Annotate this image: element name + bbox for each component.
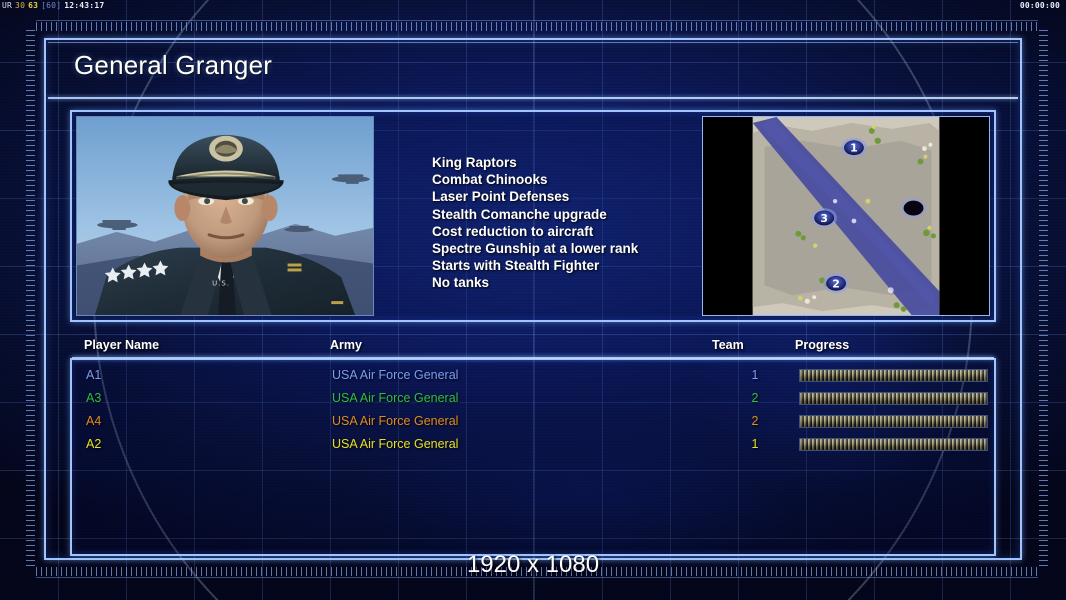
map-start-position-1: 1 <box>850 142 858 155</box>
column-header-team: Team <box>712 338 744 352</box>
title-divider <box>48 97 1018 99</box>
ability-item: Stealth Comanche upgrade <box>432 206 638 223</box>
player-list-header: Player Name Army Team Progress <box>72 338 994 358</box>
player-progress-bar <box>799 369 988 382</box>
hud-clock: 12:43:17 <box>64 1 104 10</box>
player-list-divider <box>72 357 994 359</box>
map-preview-artwork: 1 2 3 <box>703 117 989 315</box>
column-header-army: Army <box>330 338 362 352</box>
map-preview: 1 2 3 <box>702 116 990 316</box>
hud-topbar: UR3063[60]12:43:17 00:00:00 <box>0 0 1066 11</box>
general-portrait: U.S. <box>76 116 374 316</box>
table-row[interactable]: A1USA Air Force General1 <box>72 364 994 387</box>
ability-item: Cost reduction to aircraft <box>432 223 638 240</box>
player-team-cell: 2 <box>745 410 765 433</box>
hud-value-1: 30 <box>15 1 25 10</box>
frame-line-top <box>36 20 1038 21</box>
column-header-player-name: Player Name <box>84 338 159 352</box>
player-rows: A1USA Air Force General1A3USA Air Force … <box>72 364 994 456</box>
player-progress-fill <box>800 370 987 381</box>
svg-text:U.S.: U.S. <box>212 279 230 287</box>
map-start-position-2: 2 <box>832 277 840 290</box>
player-progress-fill <box>800 416 987 427</box>
ability-item: Starts with Stealth Fighter <box>432 257 638 274</box>
player-name-cell: A2 <box>86 433 101 456</box>
map-start-position-3: 3 <box>820 212 828 225</box>
ability-item: Spectre Gunship at a lower rank <box>432 240 638 257</box>
player-progress-fill <box>800 439 987 450</box>
player-team-cell: 2 <box>745 387 765 410</box>
general-info-panel: U.S. <box>70 110 996 322</box>
player-army-cell: USA Air Force General <box>332 387 458 410</box>
player-progress-bar <box>799 438 988 451</box>
hud-value-2: 63 <box>28 1 38 10</box>
frame-ruler-right <box>1039 30 1048 570</box>
table-row[interactable]: A4USA Air Force General2 <box>72 410 994 433</box>
hud-right-timer: 00:00:00 <box>1020 0 1060 11</box>
player-army-cell: USA Air Force General <box>332 364 458 387</box>
abilities-list: King Raptors Combat Chinooks Laser Point… <box>432 154 638 292</box>
player-progress-fill <box>800 393 987 404</box>
player-name-cell: A3 <box>86 387 101 410</box>
player-name-cell: A1 <box>86 364 101 387</box>
player-team-cell: 1 <box>745 364 765 387</box>
ability-item: King Raptors <box>432 154 638 171</box>
player-team-cell: 1 <box>745 433 765 456</box>
frame-ruler-top <box>36 22 1038 31</box>
frame-ruler-left <box>26 30 35 570</box>
player-progress-bar <box>799 415 988 428</box>
ability-item: Laser Point Defenses <box>432 188 638 205</box>
ability-item: No tanks <box>432 274 638 291</box>
table-row[interactable]: A3USA Air Force General2 <box>72 387 994 410</box>
hud-ur-label: UR <box>2 1 12 10</box>
player-army-cell: USA Air Force General <box>332 410 458 433</box>
ability-item: Combat Chinooks <box>432 171 638 188</box>
page-title: General Granger <box>74 50 272 81</box>
player-name-cell: A4 <box>86 410 101 433</box>
loading-screen: UR3063[60]12:43:17 00:00:00 General Gran… <box>0 0 1066 600</box>
hud-bracket: [60] <box>41 1 61 10</box>
player-army-cell: USA Air Force General <box>332 433 458 456</box>
hud-left-status: UR3063[60]12:43:17 <box>2 0 107 11</box>
resolution-label: 1920 x 1080 <box>0 551 1066 579</box>
column-header-progress: Progress <box>795 338 849 352</box>
table-row[interactable]: A2USA Air Force General1 <box>72 433 994 456</box>
portrait-artwork: U.S. <box>77 117 373 315</box>
player-list-panel: A1USA Air Force General1A3USA Air Force … <box>70 358 996 556</box>
player-progress-bar <box>799 392 988 405</box>
title-bar: General Granger <box>46 40 1020 98</box>
